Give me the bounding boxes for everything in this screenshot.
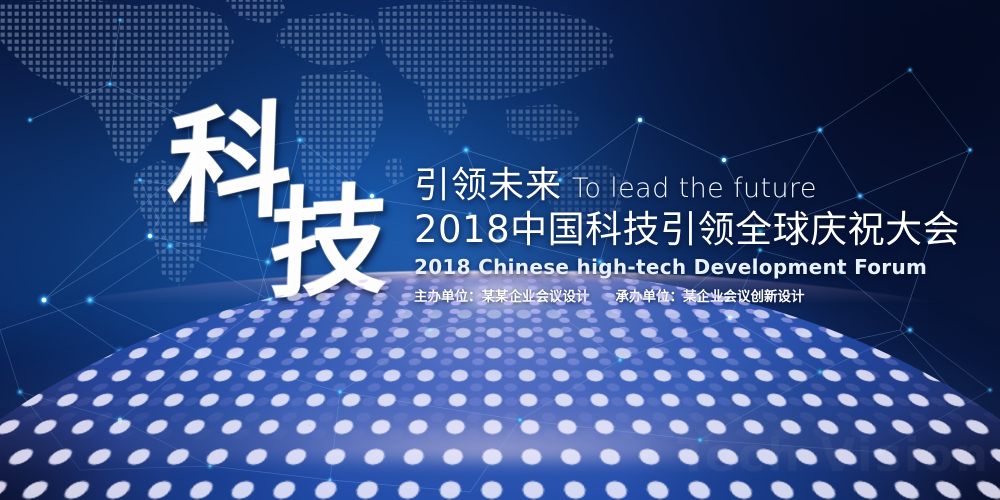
organizer-line: 主办单位：某某企业会议设计 承办单位：某企业会议创新设计 — [414, 285, 884, 305]
organizer-unit: 承办单位：某企业会议创新设计 — [616, 285, 805, 305]
slogan-chinese: 引领未来 — [414, 168, 562, 204]
conference-title-english: 2018 Chinese high-tech Development Forum — [414, 255, 884, 279]
host-unit: 主办单位：某某企业会议设计 — [414, 285, 590, 305]
calligraphy-char-ji: 技 — [268, 181, 391, 305]
calligraphy-keji: 科 技 — [168, 104, 398, 304]
slogan-english: To lead the future — [572, 175, 817, 204]
slogan-line: 引领未来 To lead the future — [414, 160, 884, 204]
conference-title-chinese: 2018中国科技引领全球庆祝大会 — [414, 209, 884, 250]
conference-banner: 科 技 引领未来 To lead the future 2018中国科技引领全球… — [0, 0, 1000, 500]
watermark-text: Tech Vision — [677, 428, 990, 482]
headline-text-block: 引领未来 To lead the future 2018中国科技引领全球庆祝大会… — [414, 160, 884, 305]
